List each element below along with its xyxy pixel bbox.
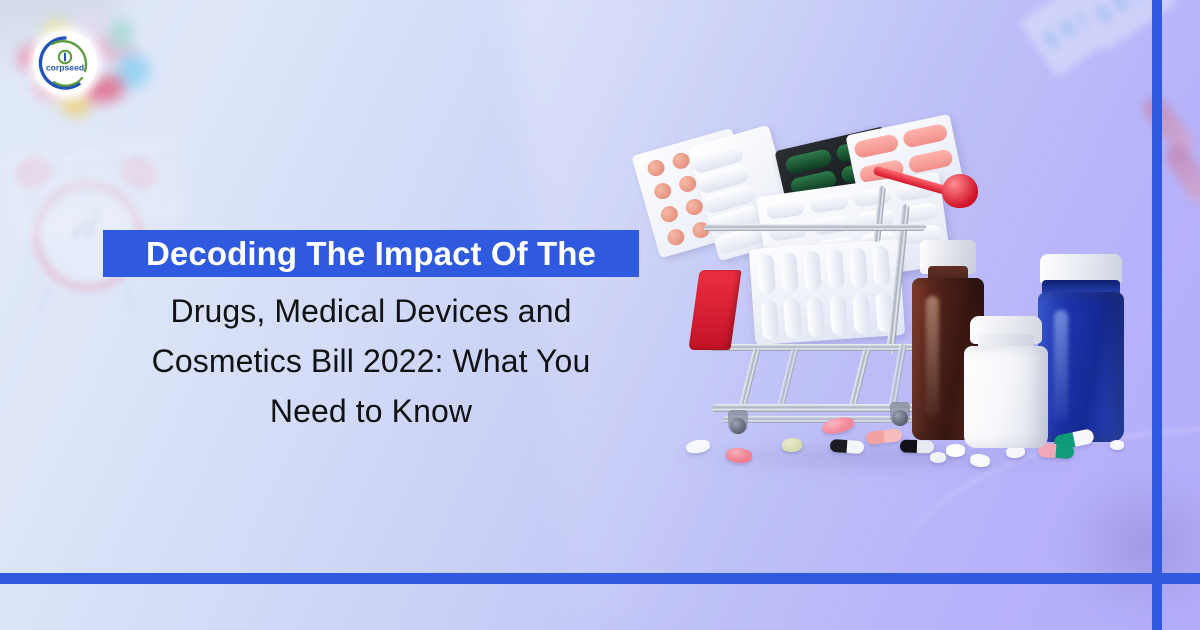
blister-dimple: [128, 151, 147, 170]
bottle-body: [1038, 292, 1124, 442]
blister-dimple: [902, 123, 949, 149]
cart-leg: [849, 348, 871, 410]
headline-body: Drugs, Medical Devices and Cosmetics Bil…: [103, 277, 639, 436]
blister-dimple: [156, 147, 175, 166]
blister-dimple: [17, 164, 36, 183]
blister-dimple: [104, 182, 123, 201]
cart-handle-grip: [942, 174, 978, 208]
cart-leg: [777, 348, 799, 410]
headline: Decoding The Impact Of The Drugs, Medica…: [103, 230, 639, 436]
blister-dimple: [659, 204, 680, 224]
loose-tablet: [946, 444, 965, 457]
blister-dimple: [646, 158, 667, 178]
cart-leg: [739, 348, 761, 410]
blister-dimple: [72, 157, 91, 176]
headline-highlight-line: Decoding The Impact Of The: [103, 230, 639, 277]
blister-dimple: [652, 181, 673, 201]
blister-dimple: [48, 189, 67, 208]
bottle-highlight: [1054, 310, 1068, 422]
bottle-body: [964, 346, 1048, 448]
right-blue-rule: [1152, 0, 1162, 630]
white-pill-bottle: [964, 316, 1048, 448]
blister-dimple: [100, 154, 119, 173]
loose-capsule: [830, 439, 865, 454]
blog-banner: corpseed Decoding The Impact Of The Drug…: [0, 0, 1200, 630]
blister-dimple: [159, 175, 178, 194]
blister-dimple: [1126, 0, 1148, 4]
background-blister-sheet: [0, 135, 190, 245]
cart-wheel: [728, 410, 748, 434]
blister-dimple: [1093, 2, 1115, 26]
bottle-highlight: [926, 296, 939, 416]
blue-supplement-bottle: [1038, 250, 1124, 442]
cart-lower-rim: [710, 344, 921, 351]
blister-dimple: [1040, 28, 1062, 52]
headline-line-4: Need to Know: [103, 386, 639, 436]
blister-dimple: [131, 178, 150, 197]
blister-dimple: [20, 192, 39, 211]
blister-dimple: [1057, 17, 1079, 41]
loose-capsule: [900, 439, 934, 453]
svg-text:corpseed: corpseed: [46, 63, 84, 73]
cart-wheel: [890, 402, 910, 426]
corpseed-logo[interactable]: corpseed: [33, 31, 97, 95]
blister-dimple: [45, 161, 64, 180]
loose-tablet: [1110, 440, 1124, 450]
product-photo: [640, 140, 1160, 490]
loose-tablet: [930, 452, 946, 463]
headline-line-3: Cosmetics Bill 2022: What You: [103, 336, 639, 386]
blister-dimple: [1109, 0, 1131, 15]
headline-line-2: Drugs, Medical Devices and: [103, 286, 639, 336]
blister-dimple: [76, 185, 95, 204]
bottom-blue-rule: [0, 573, 1200, 584]
corpseed-logo-icon: corpseed: [36, 34, 94, 92]
background-shadow: [1060, 470, 1200, 620]
